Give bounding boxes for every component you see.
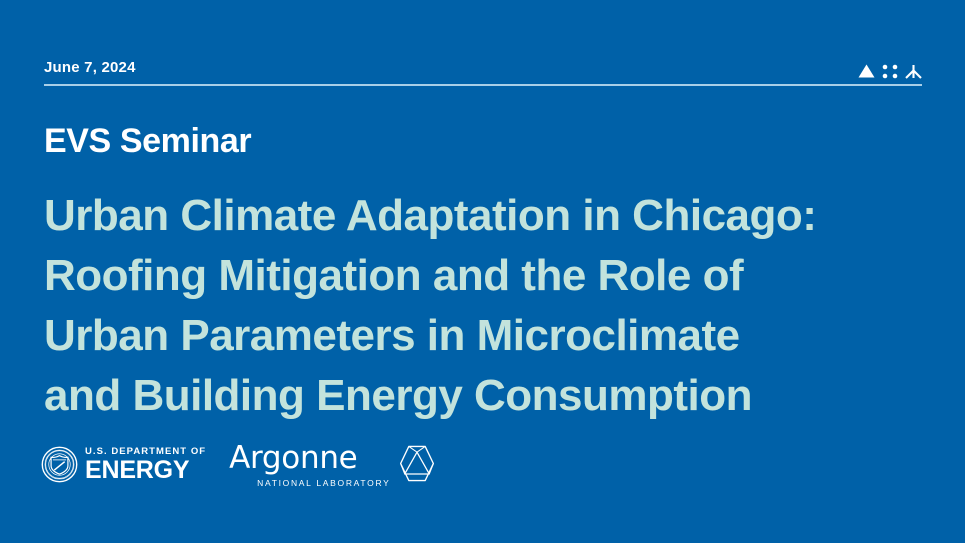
argonne-tagline-text: NATIONAL LABORATORY <box>257 479 390 488</box>
header-divider <box>44 84 922 86</box>
page-title: Urban Climate Adaptation in Chicago: Roo… <box>44 186 934 427</box>
title-line: and Building Energy Consumption <box>44 366 934 426</box>
header-mark-group <box>858 62 922 80</box>
doe-energy-text: ENERGY <box>85 459 206 482</box>
doe-wordmark: U.S. DEPARTMENT OF ENERGY <box>85 447 206 482</box>
doe-seal-icon <box>41 446 78 483</box>
title-line: Roofing Mitigation and the Role of <box>44 246 934 306</box>
seminar-label: EVS Seminar <box>44 124 934 160</box>
slide-content: EVS Seminar Urban Climate Adaptation in … <box>44 124 934 427</box>
triangle-icon <box>858 64 875 78</box>
slide-date: June 7, 2024 <box>44 60 922 75</box>
title-line: Urban Parameters in Microclimate <box>44 306 934 366</box>
slide-header: June 7, 2024 <box>44 60 922 86</box>
presentation-slide: June 7, 2024 EVS Seminar Urban Climate A… <box>0 0 965 543</box>
logo-bar: U.S. DEPARTMENT OF ENERGY Argonne NATION… <box>41 441 437 488</box>
title-line: Urban Climate Adaptation in Chicago: <box>44 186 934 246</box>
argonne-logo: Argonne NATIONAL LABORATORY <box>229 441 436 488</box>
argonne-text-group: Argonne NATIONAL LABORATORY <box>229 443 390 488</box>
argonne-name-text: Argonne <box>229 443 390 474</box>
dot-grid-icon <box>882 64 898 79</box>
doe-logo: U.S. DEPARTMENT OF ENERGY <box>41 446 206 483</box>
argonne-hexagon-icon <box>397 445 437 482</box>
tripod-icon <box>905 64 922 79</box>
